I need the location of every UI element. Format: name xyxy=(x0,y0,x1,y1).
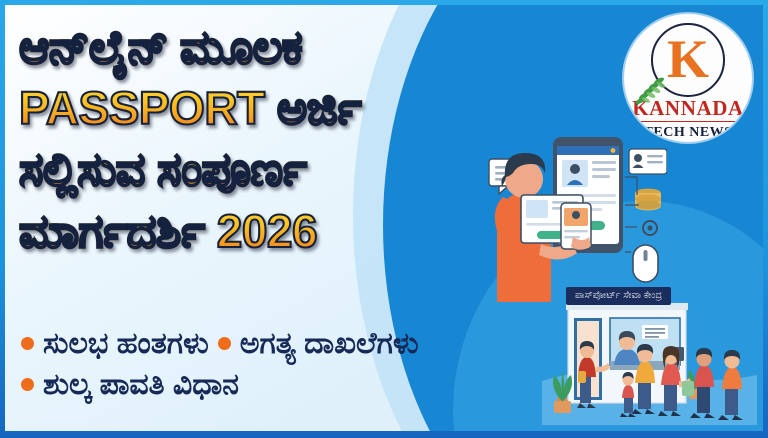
logo-monogram: K xyxy=(667,32,709,86)
leaf-icon xyxy=(632,76,666,108)
list-item: ಸುಲಭ ಹಂತಗಳು ಅಗತ್ಯ ದಾಖಲೆಗಳು xyxy=(21,327,419,361)
headline-line-1: ಆನ್‌ಲೈನ್ ಮೂಲಕ xyxy=(19,17,579,78)
bullet-dot-icon xyxy=(21,378,34,391)
bullet-label: ಅಗತ್ಯ ದಾಖಲೆಗಳು xyxy=(240,327,419,361)
passport-seva-kendra-illustration: ಪಾಸ್‌ಪೋರ್ಟ್ ಸೇವಾ ಕೇಂದ್ರ xyxy=(542,285,757,425)
bullet-dot-icon xyxy=(21,337,34,350)
bullet-dot-icon xyxy=(218,337,231,350)
thumbnail-canvas: ಆನ್‌ಲೈನ್ ಮೂಲಕ PASSPORT ಅರ್ಜಿ ಸಲ್ಲಿಸುವ ಸಂ… xyxy=(0,0,768,438)
channel-logo: K KANNADA xyxy=(624,14,752,142)
kendra-scene-art xyxy=(542,285,757,425)
online-application-illustration xyxy=(477,127,667,302)
kendra-sign-label: ಪಾಸ್‌ಪೋರ್ಟ್ ಸೇವಾ ಕೇಂದ್ರ xyxy=(566,287,671,305)
feature-list: ಸುಲಭ ಹಂತಗಳು ಅಗತ್ಯ ದಾಖಲೆಗಳು ಶುಲ್ಕ ಪಾವತಿ ವ… xyxy=(21,327,419,408)
bullet-label: ಸುಲಭ ಹಂತಗಳು xyxy=(43,327,209,361)
bullet-label: ಶುಲ್ಕ ಪಾವತಿ ವಿಧಾನ xyxy=(43,368,239,402)
content-area: ಆನ್‌ಲೈನ್ ಮೂಲಕ PASSPORT ಅರ್ಜಿ ಸಲ್ಲಿಸುವ ಸಂ… xyxy=(5,5,763,431)
list-item: ಶುಲ್ಕ ಪಾವತಿ ವಿಧಾನ xyxy=(21,368,419,402)
